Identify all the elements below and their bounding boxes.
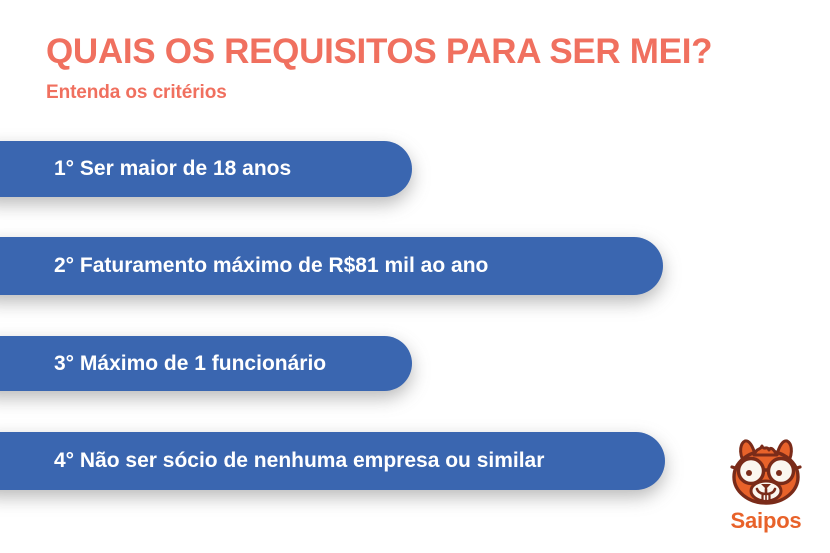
brand-logo: Saipos bbox=[714, 437, 818, 541]
requirement-bar-1: 1° Ser maior de 18 anos bbox=[0, 141, 412, 197]
requirement-bar-4: 4° Não ser sócio de nenhuma empresa ou s… bbox=[0, 432, 665, 490]
requirements-list: 1° Ser maior de 18 anos 2° Faturamento m… bbox=[0, 0, 830, 553]
requirement-label-2: 2° Faturamento máximo de R$81 mil ao ano bbox=[0, 254, 488, 278]
requirement-bar-2: 2° Faturamento máximo de R$81 mil ao ano bbox=[0, 237, 663, 295]
requirement-label-1: 1° Ser maior de 18 anos bbox=[0, 157, 291, 181]
requirement-bar-3: 3° Máximo de 1 funcionário bbox=[0, 336, 412, 391]
requirement-label-3: 3° Máximo de 1 funcionário bbox=[0, 352, 326, 376]
squirrel-with-glasses-icon bbox=[724, 437, 808, 507]
brand-wordmark: Saipos bbox=[731, 509, 802, 533]
infographic-canvas: QUAIS OS REQUISITOS PARA SER MEI? Entend… bbox=[0, 0, 830, 553]
requirement-label-4: 4° Não ser sócio de nenhuma empresa ou s… bbox=[0, 449, 544, 473]
